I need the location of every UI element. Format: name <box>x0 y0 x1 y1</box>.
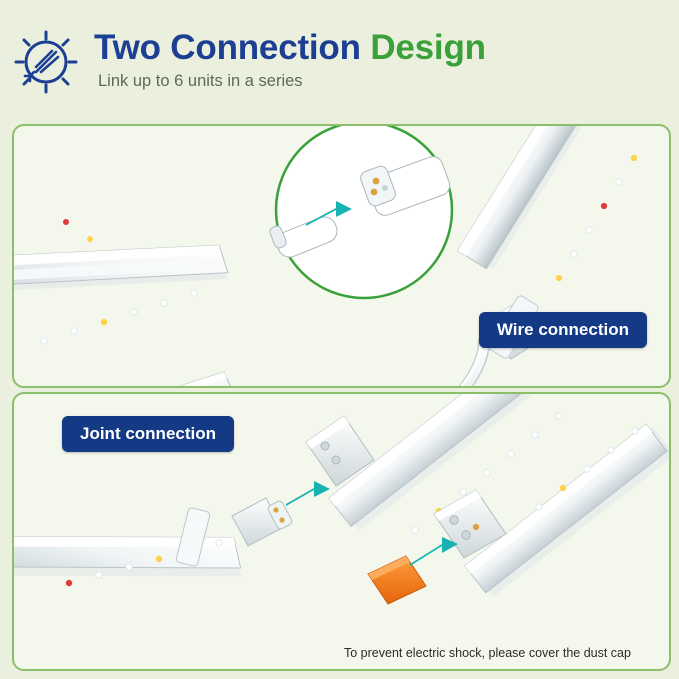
male-plug-left <box>232 498 293 546</box>
joint-connection-panel: Joint connection To prevent electric sho… <box>12 392 671 671</box>
led-array-right <box>556 155 637 281</box>
end-cap-left <box>174 372 240 388</box>
teal-arrow-joint-icon <box>286 481 330 506</box>
wire-connection-label: Wire connection <box>497 320 629 340</box>
orange-dust-cap <box>368 556 426 604</box>
led-tube-right <box>458 124 655 272</box>
wire-connection-badge: Wire connection <box>479 312 647 348</box>
dust-cap-caption: To prevent electric shock, please cover … <box>344 646 631 660</box>
teal-arrow-dustcap-icon <box>410 537 458 566</box>
header: Two Connection Design Link up to 6 units… <box>0 0 679 118</box>
joint-connection-badge: Joint connection <box>62 416 234 452</box>
product-infographic: Two Connection Design Link up to 6 units… <box>0 0 679 679</box>
page-subtitle: Link up to 6 units in a series <box>98 72 303 91</box>
connection-wire <box>212 340 484 388</box>
title-primary: Two Connection <box>94 28 361 67</box>
wire-connection-panel: Wire connection <box>12 124 671 388</box>
led-tube-left-lower <box>12 467 249 646</box>
wire-connection-illustration: Wire connection <box>14 126 669 386</box>
joint-connection-label: Joint connection <box>80 424 216 444</box>
sun-plant-grow-light-icon <box>14 30 78 94</box>
page-title: Two Connection Design <box>94 28 486 68</box>
title-accent: Design <box>370 28 486 67</box>
joint-connection-illustration: Joint connection To prevent electric sho… <box>14 394 669 669</box>
connector-zoom-circle <box>268 124 452 298</box>
led-tube-lower-right <box>465 422 671 599</box>
